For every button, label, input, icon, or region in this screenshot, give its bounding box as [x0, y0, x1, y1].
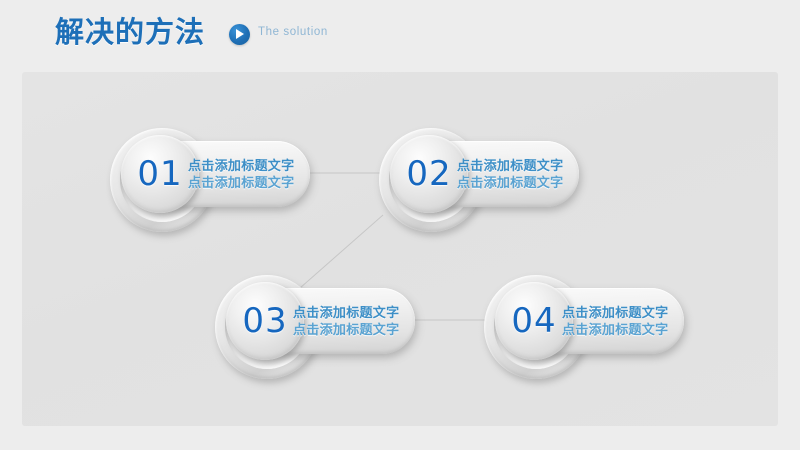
step-label-line1-03: 点击添加标题文字	[293, 305, 399, 322]
step-number-04: 04	[511, 304, 556, 338]
chevron-right-glyph	[236, 29, 244, 39]
step-number-01: 01	[137, 157, 182, 191]
step-label-line1-04: 点击添加标题文字	[562, 305, 668, 322]
step-label-line1-02: 点击添加标题文字	[457, 158, 563, 175]
page-subtitle: The solution	[258, 26, 328, 38]
step-label-02: 点击添加标题文字 点击添加标题文字	[457, 158, 563, 192]
step-label-line1-01: 点击添加标题文字	[188, 158, 294, 175]
step-item-04[interactable]: 04 点击添加标题文字 点击添加标题文字	[484, 275, 684, 379]
step-label-03: 点击添加标题文字 点击添加标题文字	[293, 305, 399, 339]
step-label-01: 点击添加标题文字 点击添加标题文字	[188, 158, 294, 192]
step-item-03[interactable]: 03 点击添加标题文字 点击添加标题文字	[215, 275, 415, 379]
step-item-01[interactable]: 01 点击添加标题文字 点击添加标题文字	[110, 128, 310, 232]
step-label-04: 点击添加标题文字 点击添加标题文字	[562, 305, 668, 339]
step-label-line2-03: 点击添加标题文字	[293, 322, 399, 339]
slide-header: 解决的方法 The solution	[0, 0, 800, 62]
slide-canvas: 解决的方法 The solution 01 点击添加标题文字 点击添加标题文字	[0, 0, 800, 450]
step-item-02[interactable]: 02 点击添加标题文字 点击添加标题文字	[379, 128, 579, 232]
step-label-line2-01: 点击添加标题文字	[188, 175, 294, 192]
step-label-line2-04: 点击添加标题文字	[562, 322, 668, 339]
page-title: 解决的方法	[55, 9, 205, 51]
step-number-03: 03	[242, 304, 287, 338]
chevron-right-icon	[229, 24, 250, 45]
step-label-line2-02: 点击添加标题文字	[457, 175, 563, 192]
step-number-02: 02	[406, 157, 451, 191]
